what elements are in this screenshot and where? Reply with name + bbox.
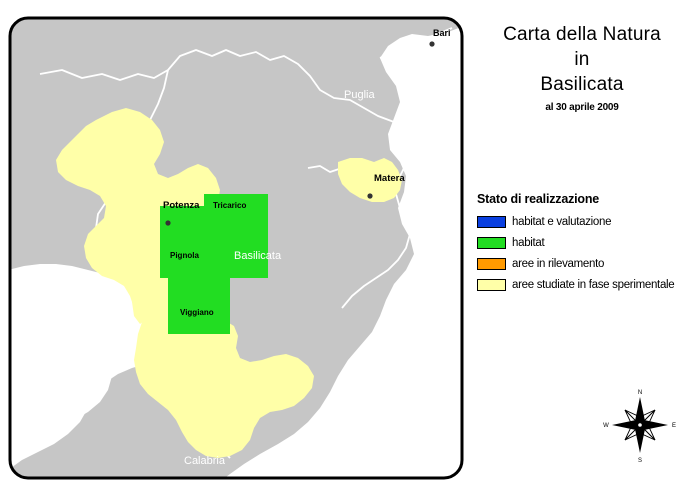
legend-swatch-habitat (477, 237, 506, 249)
area-label-pignola: Pignola (170, 251, 199, 260)
page-subtitle: al 30 aprile 2009 (470, 102, 694, 113)
compass-rose: N S E W (600, 385, 680, 465)
city-marker-matera[interactable] (367, 193, 372, 198)
region-label-campania: Campania (52, 317, 103, 329)
page-title-line-1: Carta della Natura (470, 22, 694, 47)
legend-label-aree-in-rilevamento: aree in rilevamento (512, 258, 604, 270)
region-label-basilicata: Basilicata (234, 250, 282, 262)
legend-swatch-aree-studiate (477, 279, 506, 291)
city-marker-potenza[interactable] (165, 220, 170, 225)
city-label-potenza: Potenza (163, 200, 200, 211)
compass-label-north: N (638, 390, 642, 396)
legend-item-aree-in-rilevamento[interactable]: aree in rilevamento (477, 254, 695, 273)
area-label-viggiano: Viggiano (180, 308, 214, 317)
city-label-bari: Bari (433, 28, 451, 38)
legend-swatch-aree-in-rilevamento (477, 258, 506, 270)
area-label-tricarico: Tricarico (213, 201, 246, 210)
legend-item-habitat-e-valutazione[interactable]: habitat e valutazione (477, 212, 695, 231)
region-label-calabria: Calabria (184, 455, 226, 467)
compass-rose-graphic: N S E W (600, 385, 680, 465)
legend-swatch-habitat-e-valutazione (477, 216, 506, 228)
city-label-matera: Matera (374, 173, 405, 184)
legend-label-habitat: habitat (512, 237, 544, 249)
legend-label-aree-studiate: aree studiate in fase sperimentale (512, 279, 674, 291)
compass-label-south: S (638, 458, 642, 464)
city-marker-bari[interactable] (429, 41, 434, 46)
page-title-line-2: in (470, 47, 694, 72)
legend-label-habitat-e-valutazione: habitat e valutazione (512, 216, 611, 228)
compass-label-east: E (672, 423, 676, 429)
area-habitat-viggiano[interactable] (168, 272, 230, 334)
map-canvas[interactable]: Puglia Basilicata Campania Calabria Bari… (8, 16, 464, 480)
map-panel: Puglia Basilicata Campania Calabria Bari… (8, 16, 464, 480)
legend-item-aree-studiate[interactable]: aree studiate in fase sperimentale (477, 275, 695, 294)
region-label-puglia: Puglia (344, 89, 375, 101)
map-page: Puglia Basilicata Campania Calabria Bari… (0, 0, 700, 496)
title-block: Carta della Natura in Basilicata al 30 a… (470, 22, 694, 113)
legend-heading: Stato di realizzazione (477, 192, 695, 206)
legend-item-habitat[interactable]: habitat (477, 233, 695, 252)
legend: Stato di realizzazione habitat e valutaz… (477, 192, 695, 296)
compass-label-west: W (603, 423, 609, 429)
page-title-line-3: Basilicata (470, 72, 694, 97)
